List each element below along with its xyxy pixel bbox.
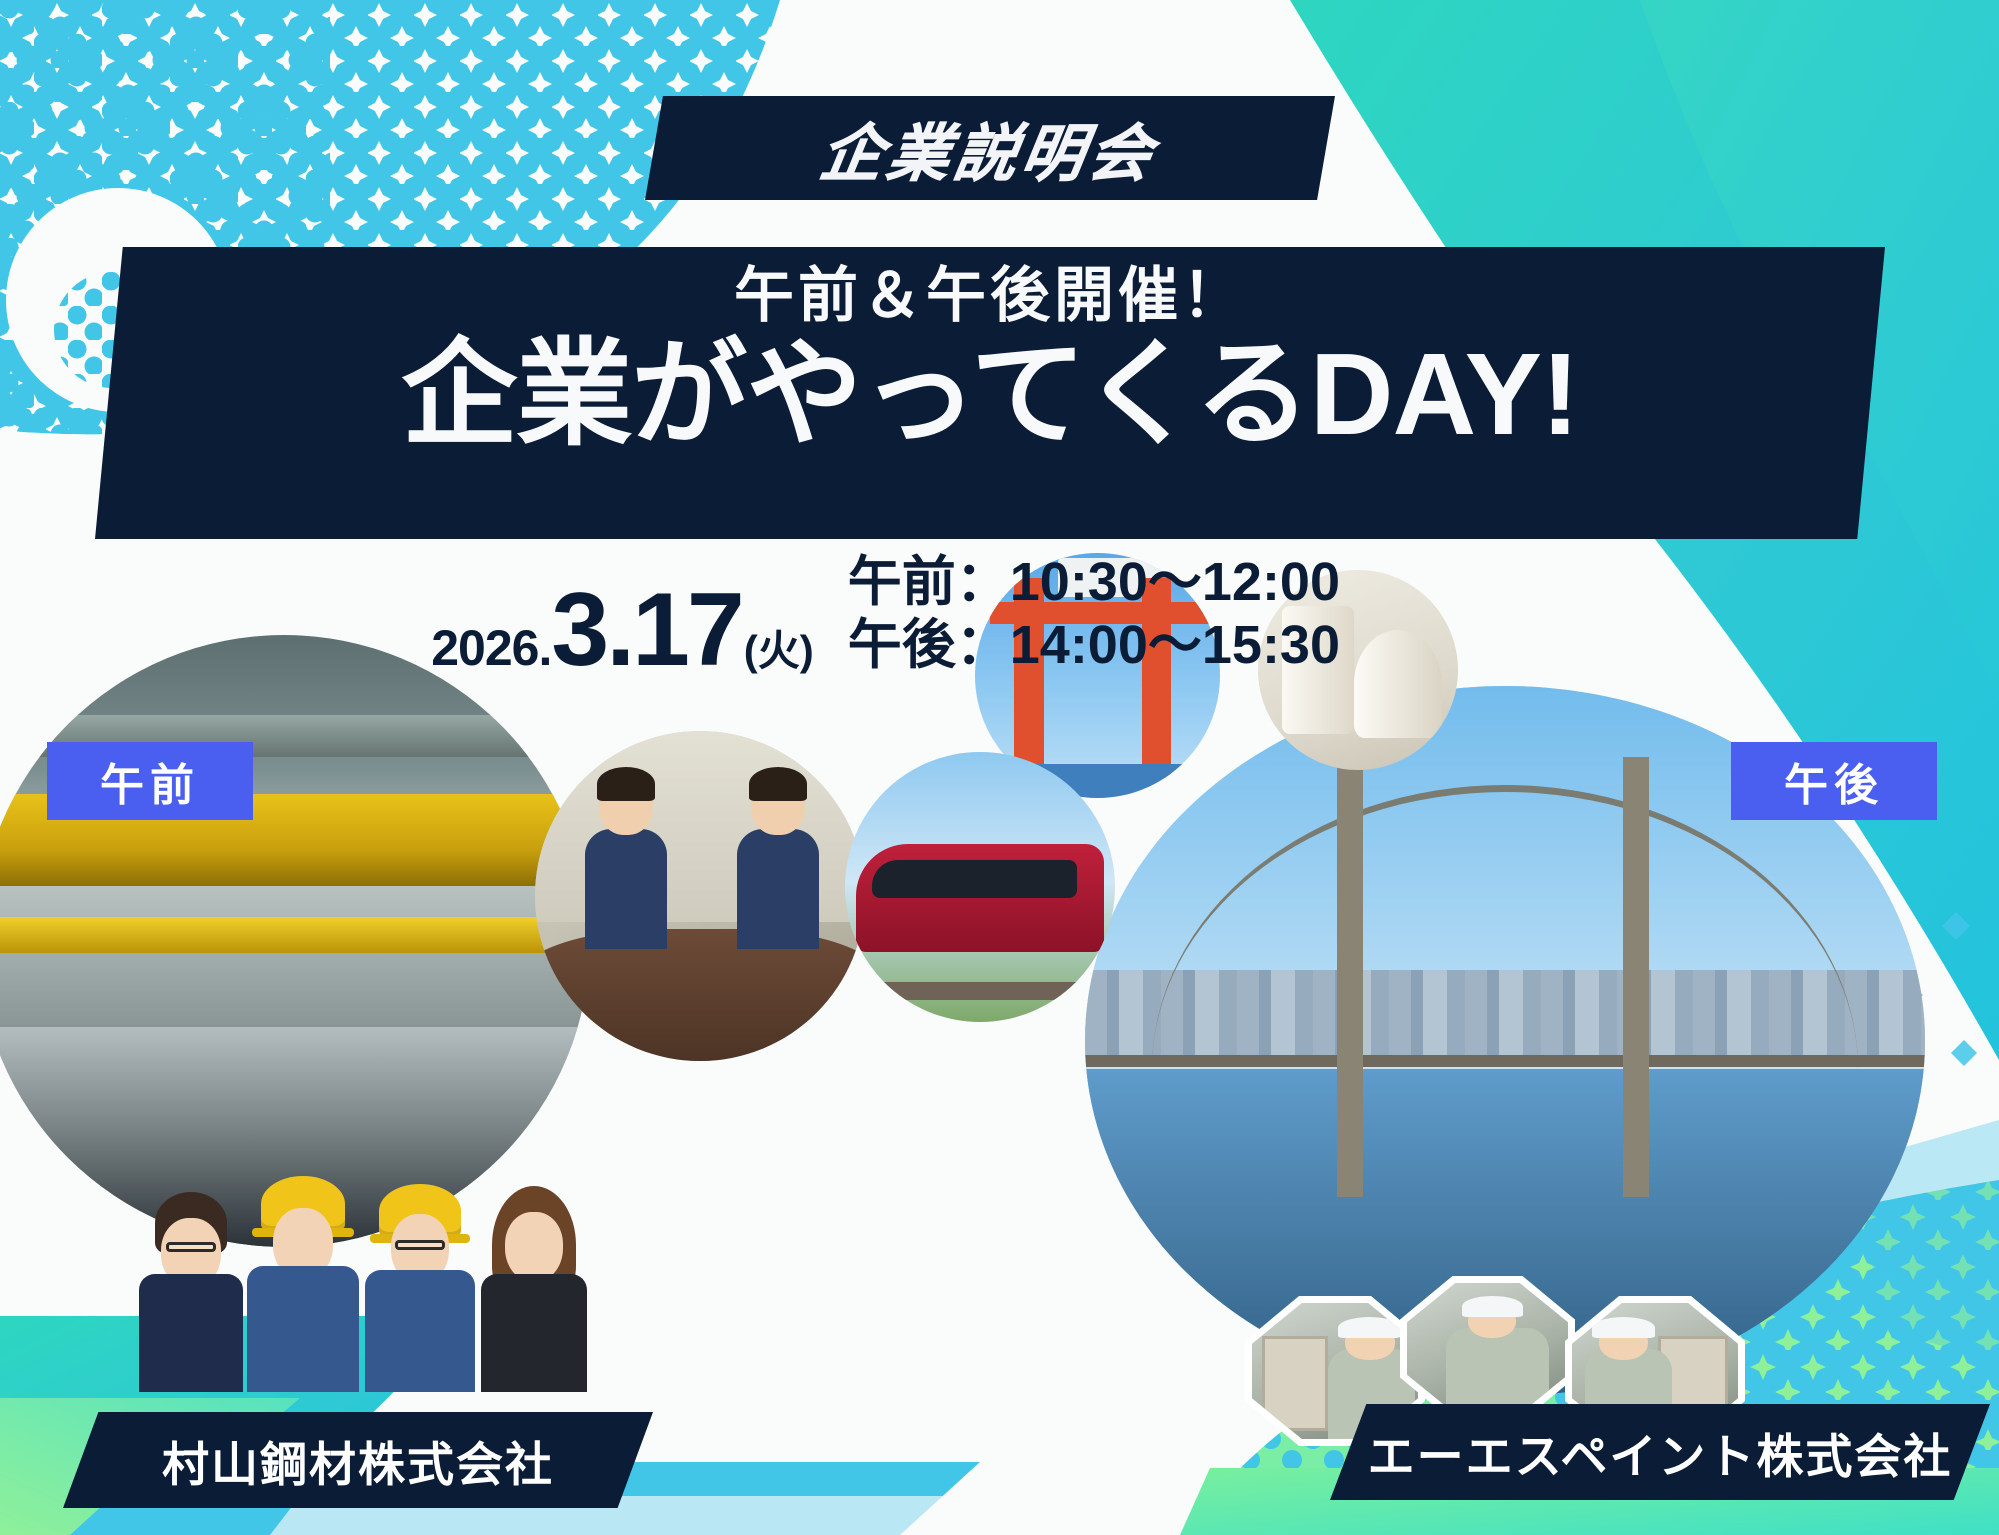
kicker-label: 企業説明会 <box>815 103 1164 193</box>
badge-afternoon: 午後 <box>1731 742 1937 820</box>
date-time-block: 2026. 3.17 (火) 午前：10:30〜12:00 午後：14:00〜1… <box>0 542 1340 682</box>
kicker-ribbon: 企業説明会 <box>645 96 1335 200</box>
poster-canvas: 企業説明会 午前＆午後開催！ 企業がやってくるDAY! 2026. 3.17 (… <box>0 0 1999 1535</box>
main-title-ribbon: 午前＆午後開催！ 企業がやってくるDAY! <box>95 247 1885 539</box>
company-banner-afternoon: エーエスペイント株式会社 <box>1330 1404 1990 1500</box>
badge-afternoon-label: 午後 <box>1784 749 1884 813</box>
event-date: 2026. 3.17 (火) <box>431 578 814 682</box>
headline: 企業がやってくるDAY! <box>401 332 1578 457</box>
event-schedule: 午前：10:30〜12:00 午後：14:00〜15:30 <box>848 551 1340 682</box>
photo-red-express-train <box>845 752 1115 1022</box>
photo-inset-worker-warehouse <box>1400 1276 1575 1421</box>
badge-morning: 午前 <box>47 742 253 820</box>
company-name-morning: 村山鋼材株式会社 <box>162 1426 554 1495</box>
company-banner-morning: 村山鋼材株式会社 <box>63 1412 653 1508</box>
subheadline: 午前＆午後開催！ <box>734 261 1246 330</box>
schedule-morning: 午前：10:30〜12:00 <box>848 551 1340 615</box>
illustration-company-staff <box>133 1152 598 1392</box>
company-name-afternoon: エーエスペイント株式会社 <box>1368 1418 1953 1487</box>
photo-employee-meeting <box>535 731 865 1061</box>
date-weekday: (火) <box>744 617 814 678</box>
schedule-afternoon: 午後：14:00〜15:30 <box>848 614 1340 678</box>
badge-morning-label: 午前 <box>100 749 200 813</box>
date-day: 3.17 <box>551 578 741 682</box>
date-year: 2026. <box>431 619 551 677</box>
